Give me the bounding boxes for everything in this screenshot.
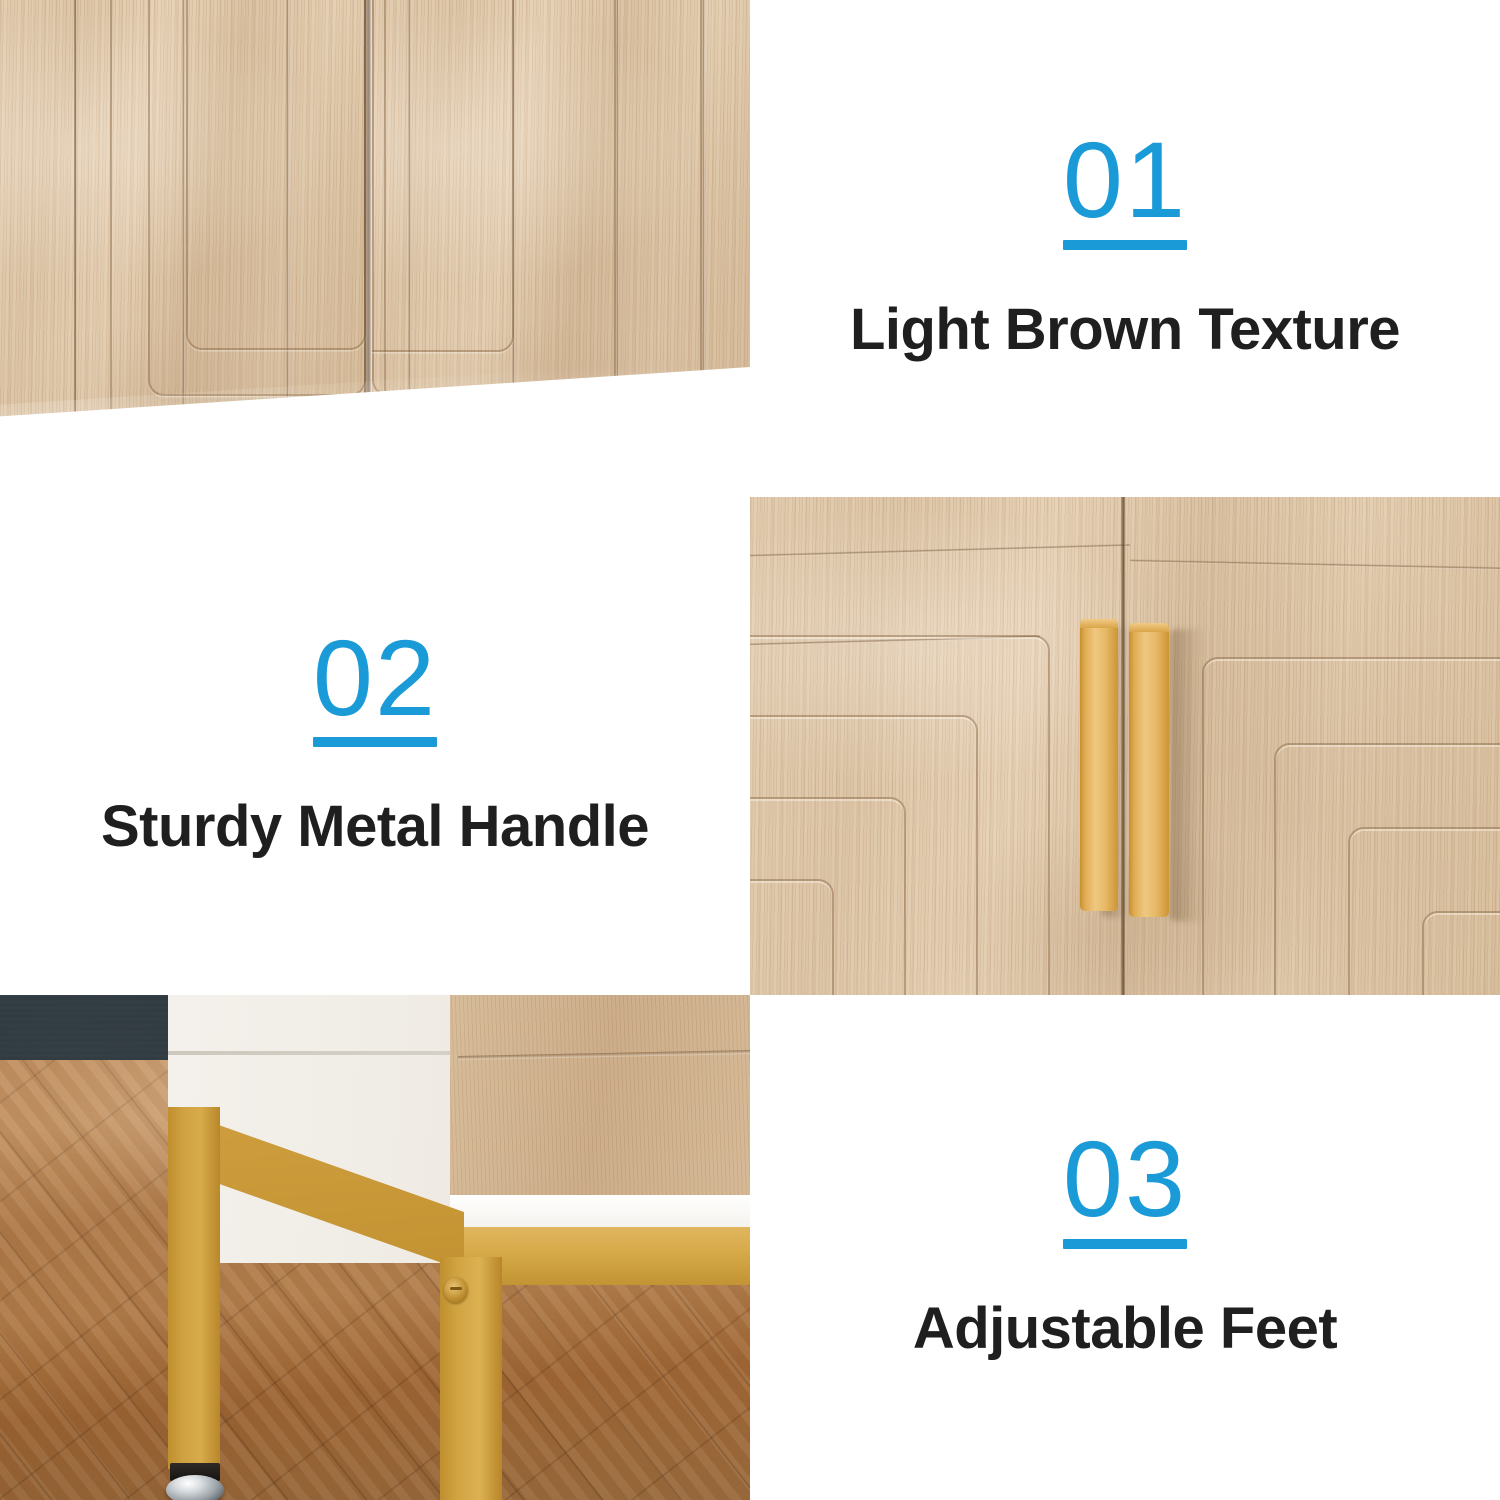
feature-photo-adjustable-feet bbox=[0, 995, 750, 1500]
feature-number-03: 03 bbox=[1063, 1127, 1187, 1231]
feature-number-underline-03 bbox=[1063, 1239, 1187, 1249]
groove-nested-rect bbox=[1422, 911, 1500, 995]
feature-number-01: 01 bbox=[1063, 128, 1187, 232]
frame-screw bbox=[444, 1277, 468, 1303]
handle-shadow-right bbox=[1170, 629, 1210, 921]
feature-title-02: Sturdy Metal Handle bbox=[101, 793, 649, 860]
groove-nested-rect bbox=[750, 879, 834, 995]
feature-number-block-03: 03 bbox=[1063, 1127, 1187, 1249]
feature-number-underline-01 bbox=[1063, 240, 1187, 250]
feature-caption-02: 02 Sturdy Metal Handle bbox=[0, 497, 750, 995]
feature-title-03: Adjustable Feet bbox=[913, 1295, 1337, 1362]
infographic-grid: 01 Light Brown Texture 02 Sturdy Metal H… bbox=[0, 0, 1500, 1500]
feature-caption-03: 03 Adjustable Feet bbox=[750, 995, 1500, 1500]
feature-number-underline-02 bbox=[313, 737, 437, 747]
feature-photo-sturdy-metal-handle bbox=[750, 497, 1500, 995]
feature-caption-01: 01 Light Brown Texture bbox=[750, 0, 1500, 497]
groove-nested-rect bbox=[186, 0, 366, 350]
cabinet-door-wood bbox=[450, 995, 750, 1203]
handle-bar-right bbox=[1129, 623, 1169, 917]
groove-nested-rect bbox=[372, 0, 514, 352]
feature-number-block-02: 02 bbox=[313, 626, 437, 748]
feature-number-02: 02 bbox=[313, 626, 437, 730]
adjustable-foot-rear bbox=[166, 1475, 224, 1500]
frame-screw-slot bbox=[450, 1287, 462, 1290]
feature-title-01: Light Brown Texture bbox=[850, 296, 1400, 363]
handle-bar-left bbox=[1080, 619, 1118, 911]
feature-photo-light-brown-texture bbox=[0, 0, 750, 497]
cabinet-leg-rear-gold bbox=[168, 1107, 220, 1469]
feature-number-block-01: 01 bbox=[1063, 128, 1187, 250]
